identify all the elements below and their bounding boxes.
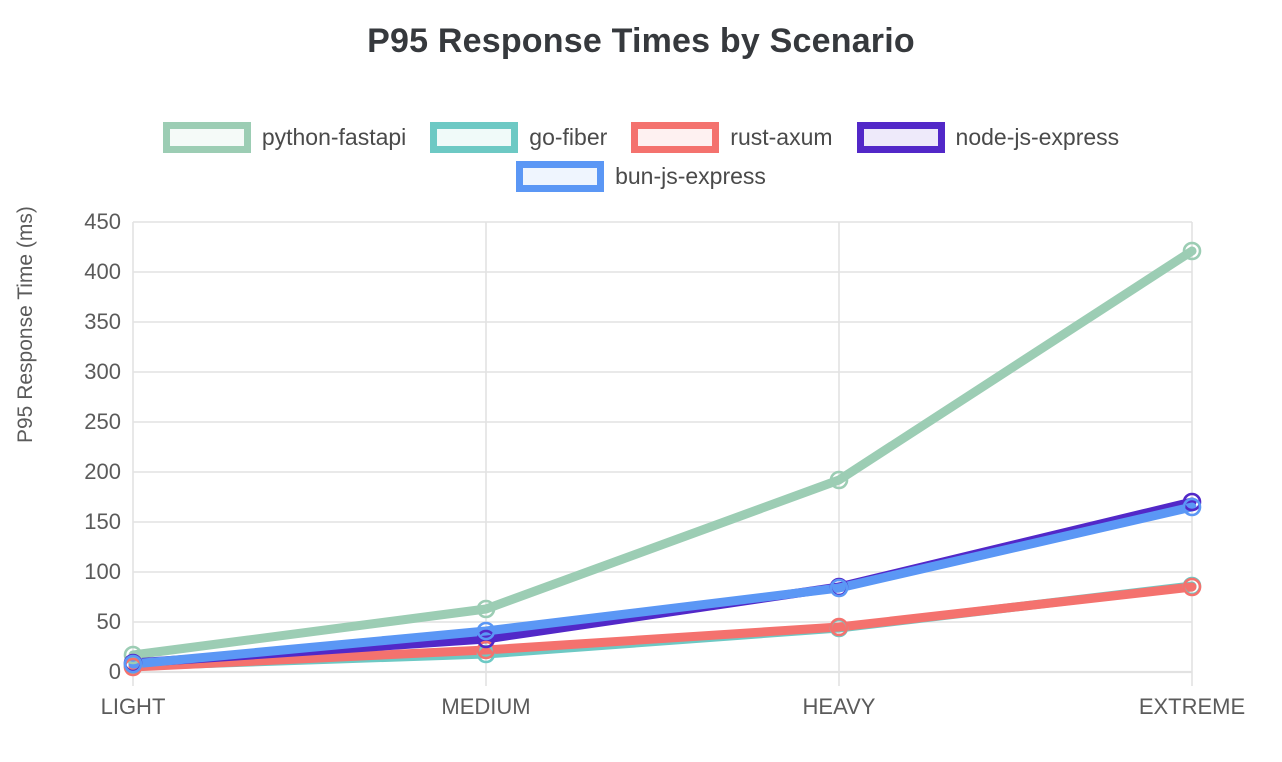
y-tick-100: 100 (53, 559, 121, 585)
x-tick-HEAVY: HEAVY (803, 694, 876, 720)
x-tick-EXTREME: EXTREME (1139, 694, 1245, 720)
y-tick-300: 300 (53, 359, 121, 385)
x-tick-MEDIUM: MEDIUM (441, 694, 530, 720)
y-axis-title: P95 Response Time (ms) (14, 206, 38, 443)
y-tick-150: 150 (53, 509, 121, 535)
y-tick-50: 50 (53, 609, 121, 635)
y-tick-200: 200 (53, 459, 121, 485)
y-tick-400: 400 (53, 259, 121, 285)
chart-container: P95 Response Times by Scenario python-fa… (0, 0, 1282, 762)
plot-area: 050100150200250300350400450 LIGHTMEDIUMH… (0, 0, 1282, 762)
y-tick-0: 0 (53, 659, 121, 685)
y-tick-250: 250 (53, 409, 121, 435)
chart-svg (0, 0, 1282, 762)
line-python-fastapi (133, 251, 1192, 655)
y-tick-350: 350 (53, 309, 121, 335)
series-lines (133, 251, 1192, 667)
x-tick-LIGHT: LIGHT (101, 694, 166, 720)
y-tick-450: 450 (53, 209, 121, 235)
